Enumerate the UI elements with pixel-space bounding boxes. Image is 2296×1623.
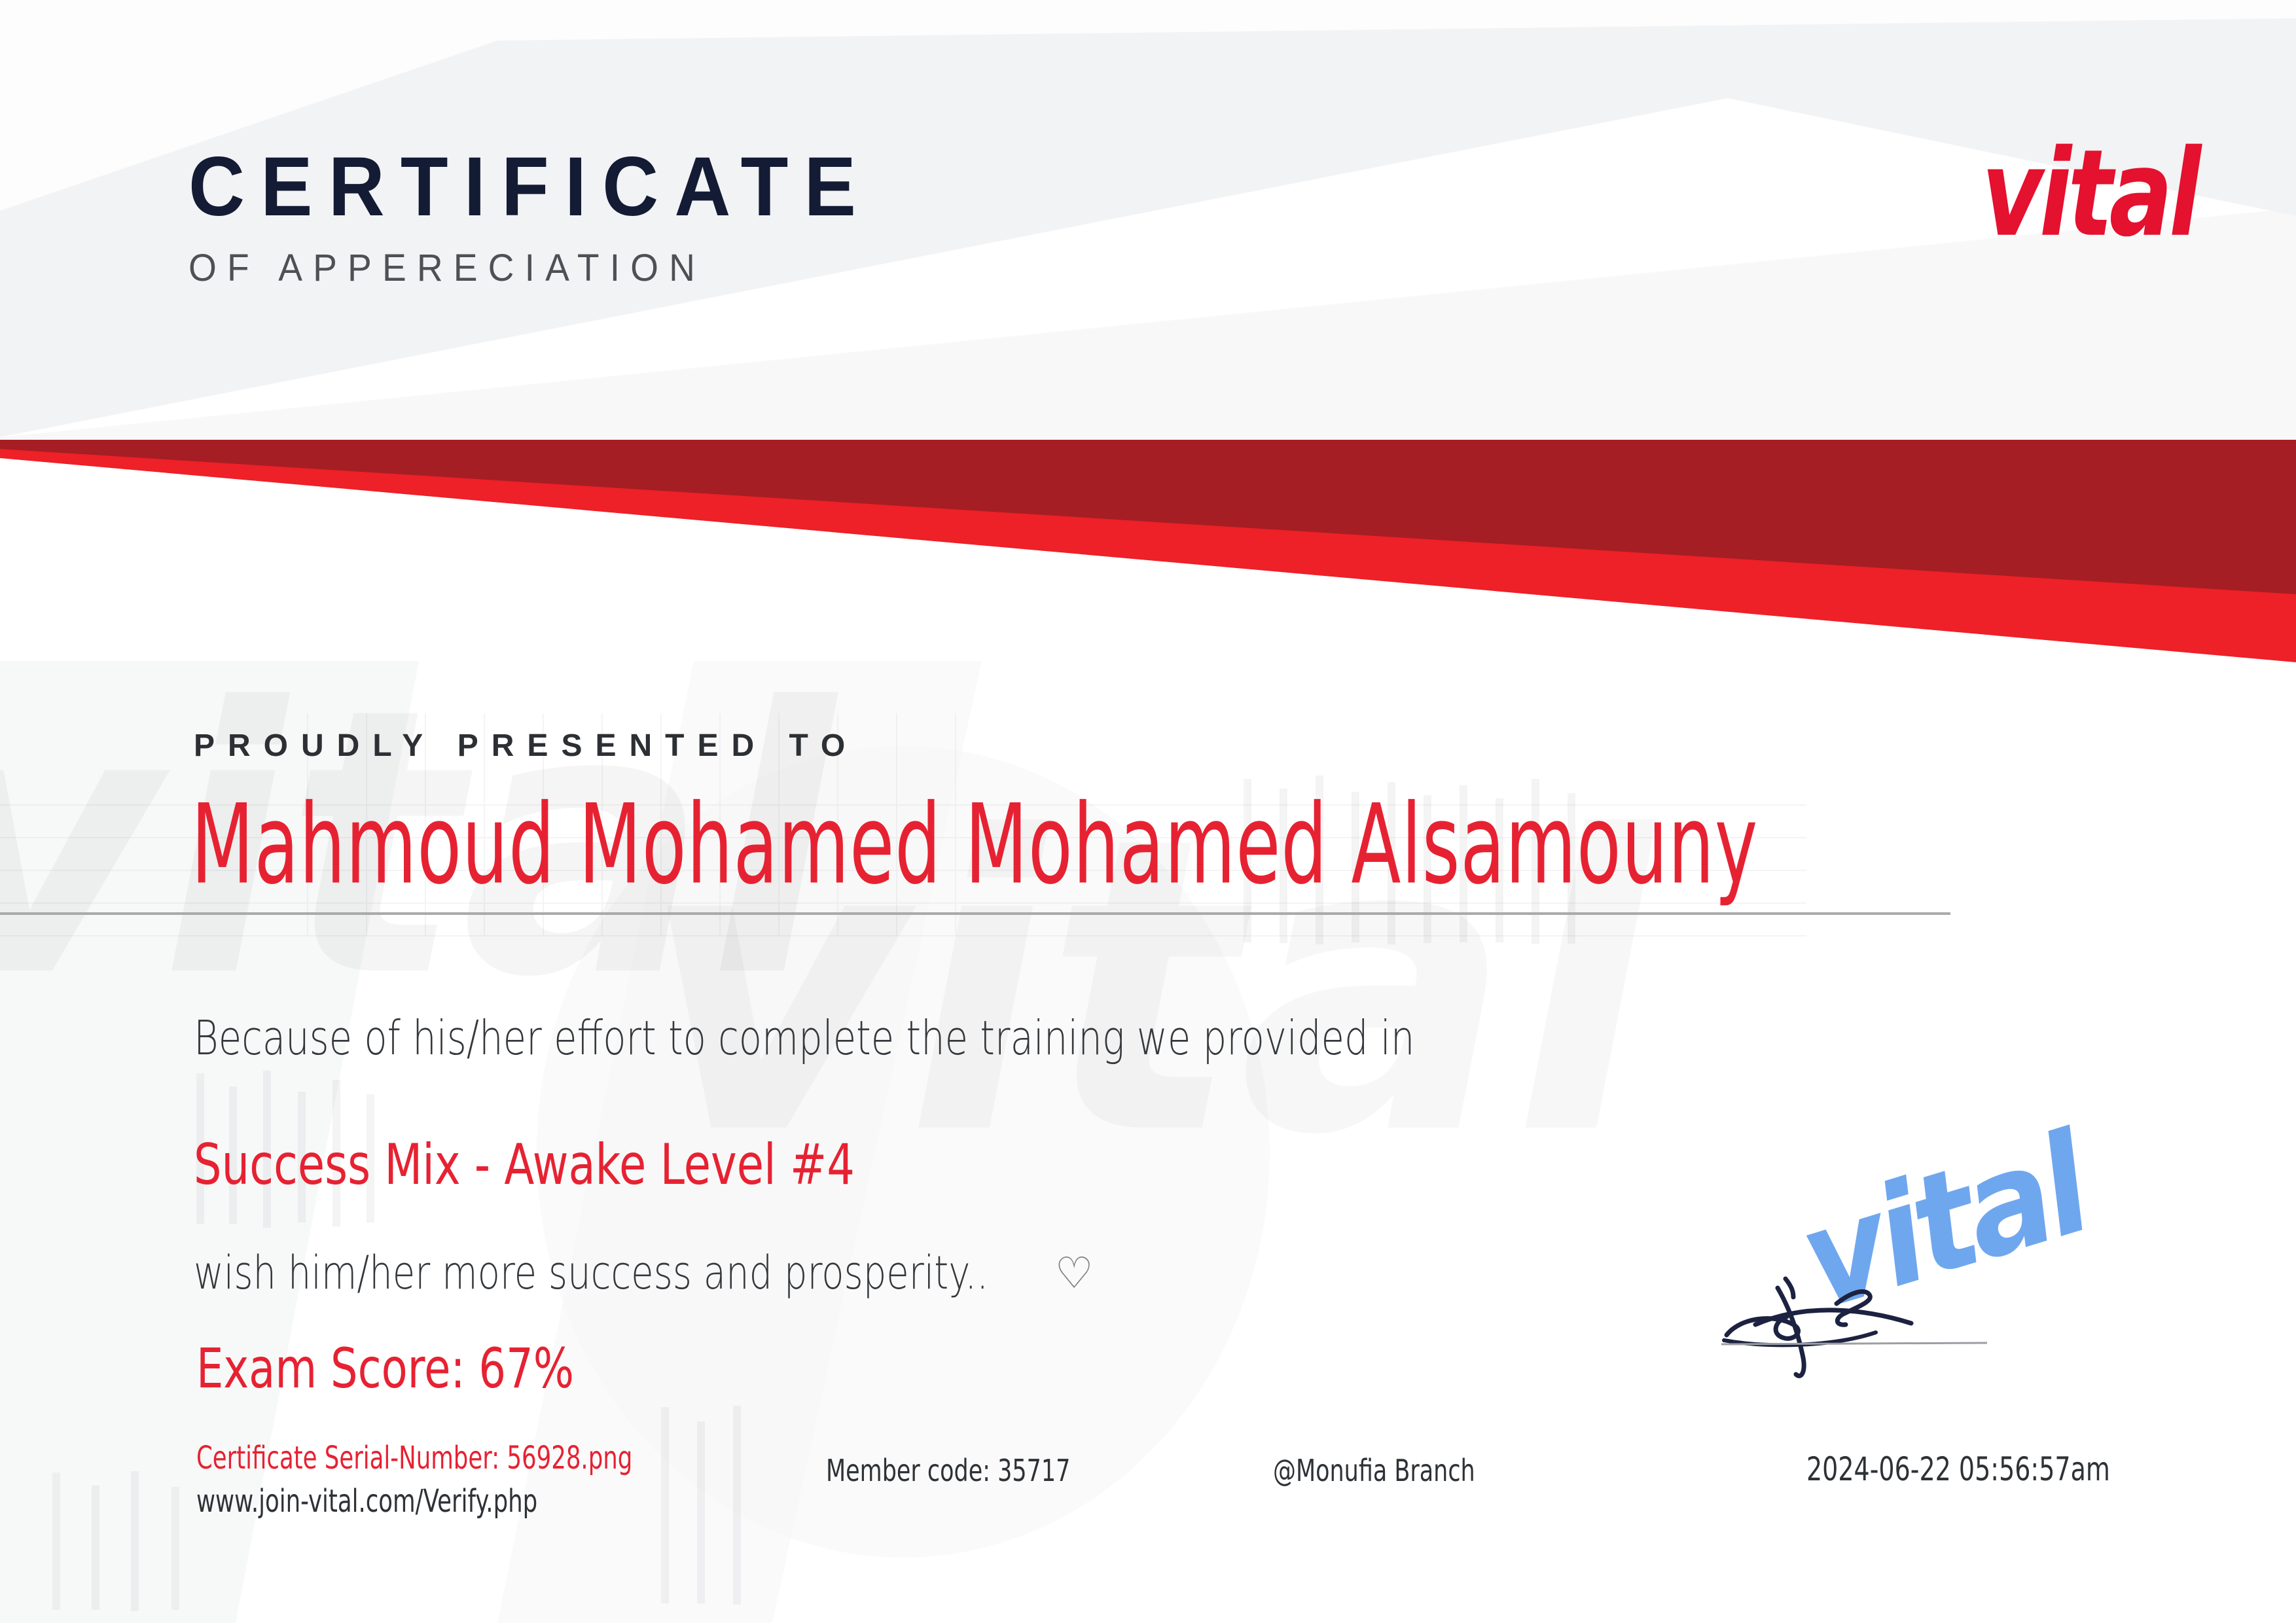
presented-to-label: PROUDLY PRESENTED TO xyxy=(194,728,858,764)
certificate-serial-number: Certificate Serial-Number: 56928.png xyxy=(196,1440,632,1476)
page-title: CERTIFICATE xyxy=(188,145,872,229)
reason-line: Because of his/her effort to complete th… xyxy=(194,1010,1414,1065)
course-title: Success Mix - Awake Level #4 xyxy=(194,1132,855,1198)
vital-logo: vital xyxy=(1982,134,2198,254)
certificate-page: vital vital CERTIFICATE OF APPERECIATION… xyxy=(0,0,2296,1623)
branch-name: @Monufia Branch xyxy=(1273,1453,1475,1488)
certificate-header: CERTIFICATE OF APPERECIATION vital xyxy=(0,0,2296,440)
wish-text: wish him/her more success and prosperity… xyxy=(194,1246,988,1300)
name-underline-rule xyxy=(0,912,1950,915)
exam-score: Exam Score: 67% xyxy=(196,1336,574,1400)
wish-line: wish him/her more success and prosperity… xyxy=(194,1246,1094,1300)
recipient-name: Mahmoud Mohamed Mohamed Alsamouny xyxy=(191,788,1758,903)
certificate-body: PROUDLY PRESENTED TO Mahmoud Mohamed Moh… xyxy=(0,440,2296,1623)
issue-timestamp: 2024-06-22 05:56:57am xyxy=(1806,1450,2110,1488)
verify-url[interactable]: www.join-vital.com/Verify.php xyxy=(196,1483,537,1520)
signature-icon xyxy=(1715,1225,1990,1395)
stamp-and-signature: vital xyxy=(1715,1179,2173,1480)
title-block: CERTIFICATE OF APPERECIATION xyxy=(188,145,924,290)
page-subtitle: OF APPERECIATION xyxy=(188,246,887,290)
member-code: Member code: 35717 xyxy=(826,1453,1070,1488)
heart-icon: ♡ xyxy=(1055,1251,1094,1294)
